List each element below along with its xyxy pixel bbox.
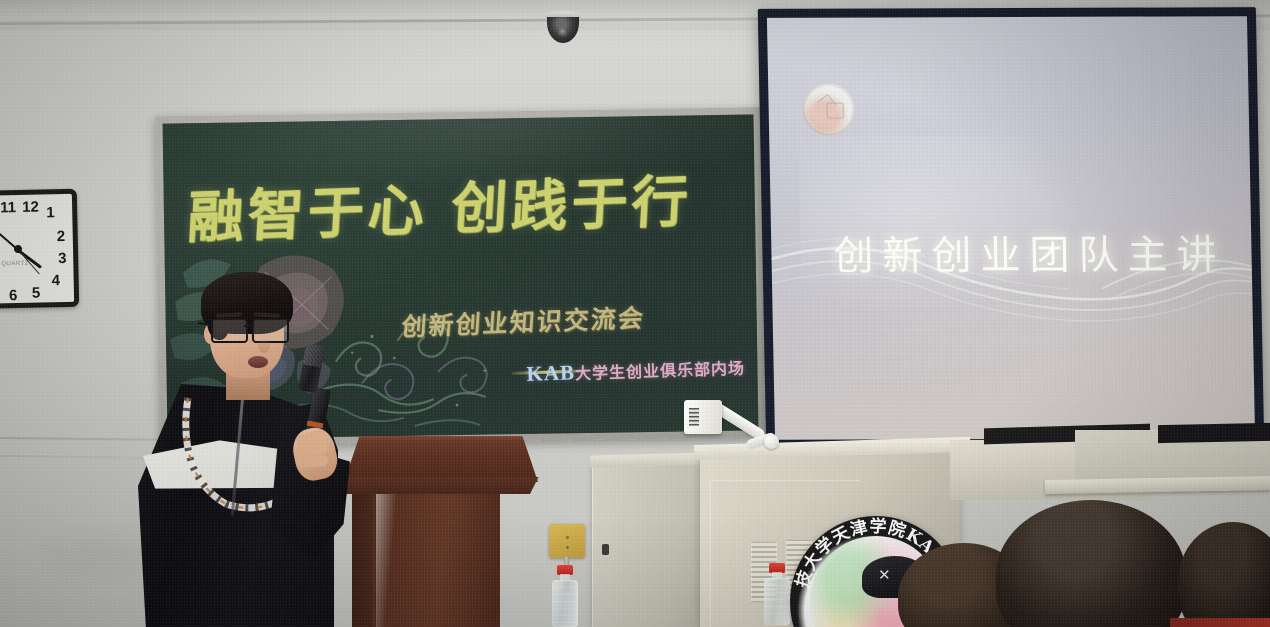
blackboard-credit-latin: KAB [526,360,575,386]
dome-security-camera-icon [543,11,583,36]
clock-numeral-6: 6 [9,287,18,304]
presenter-mouth [248,356,268,368]
glasses-lens-left [211,318,248,343]
blackboard-credit-line: KAB大学生创业俱乐部内场 [526,355,745,387]
document-camera-arm [676,400,786,470]
wall-clock: 12 1 2 3 4 5 6 7 8 9 10 11 QUARTZ [0,189,79,309]
classroom-photo-scene: 12 1 2 3 4 5 6 7 8 9 10 11 QUARTZ [0,0,1270,627]
clock-numeral-3: 3 [58,250,67,267]
document-camera-head-icon [684,400,722,434]
presenter-finger [297,455,329,468]
chalk-dust-haze [163,114,755,193]
clock-numeral-1: 1 [46,204,55,221]
slide-wave-graphic [771,216,1254,368]
clock-numeral-2: 2 [57,228,66,245]
blackboard-headline: 融智于心 创践于行 [186,171,760,246]
chair-backrest [549,524,585,558]
glasses-lens-right [252,318,289,343]
clock-brand-label: QUARTZ [1,261,29,268]
student-presenter [130,272,380,627]
clock-center-pin [14,245,22,253]
blackboard-divider-rule [511,369,586,374]
av-cabinet-left [592,462,708,627]
clock-numeral-12: 12 [22,199,39,216]
water-bottle [762,563,792,625]
cabinet-handle [602,544,609,555]
document-camera-vent [689,408,699,426]
projection-screen-frame: 创新创业团队主讲 [758,7,1265,449]
podium-body [372,492,500,627]
camera-lens [558,28,569,37]
cap-logo: ✕ [878,568,894,584]
clock-numeral-4: 4 [51,272,60,289]
glasses-bridge [244,325,254,327]
arm-pivot-joint [764,434,779,449]
chair-rivet [566,536,569,539]
microphone-grille [302,343,325,368]
bottle-body [764,578,790,625]
glasses-temple [198,322,212,327]
foreground-red-edge [1170,618,1270,627]
clock-numeral-5: 5 [32,285,41,302]
blackboard-subtitle: 创新创业知识交流会 [400,299,646,344]
university-seal-logo-icon [802,84,855,136]
projection-screen-surface: 创新创业团队主讲 [767,16,1255,440]
eyeglasses-icon [208,318,292,342]
chair-rivet [566,546,569,549]
blackboard-credit-cn: 大学生创业俱乐部内场 [575,359,746,384]
microphone-icon [298,343,325,394]
presenter-nose [258,338,270,353]
seal-mark [827,103,844,119]
right-dark-trim [1158,423,1270,443]
water-bottle [550,565,580,627]
clock-numeral-11: 11 [0,199,16,216]
bottle-body [552,580,578,627]
